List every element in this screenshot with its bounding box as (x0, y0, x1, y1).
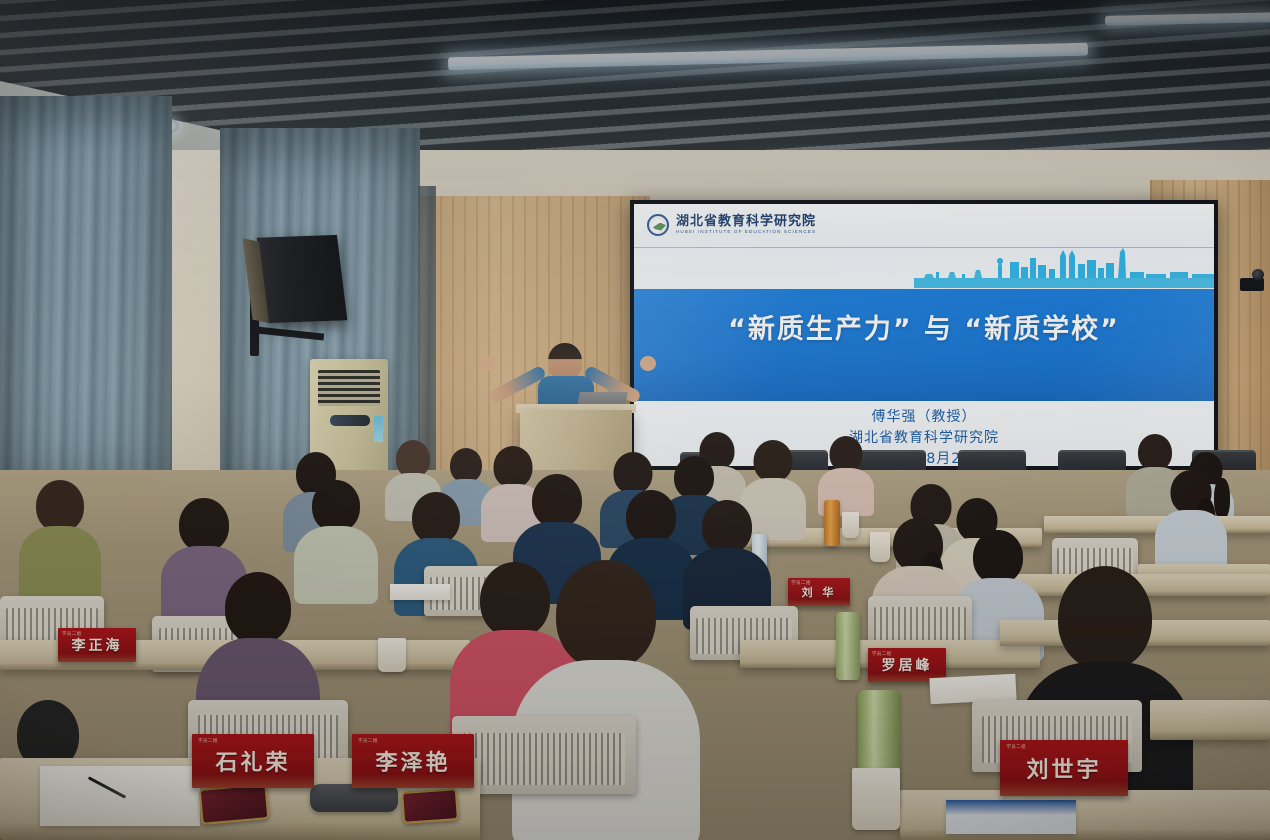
person-head (973, 530, 1023, 584)
nameplate: 学员二组 石礼荣 (192, 734, 314, 788)
person-head (225, 572, 291, 644)
wall-camera-icon (1240, 278, 1264, 291)
audience-person (300, 480, 372, 600)
person-head (754, 440, 793, 482)
person-head (626, 490, 676, 544)
smartphone[interactable] (199, 783, 270, 825)
audience-person (536, 560, 676, 840)
nameplate: 学员二组 刘 华 (788, 578, 850, 606)
nameplate: 学员二组 罗居峰 (868, 648, 946, 682)
curtain-left (0, 96, 172, 526)
nameplate-tag: 学员二组 (198, 738, 218, 744)
nameplate-name: 刘 华 (802, 584, 837, 600)
nameplate-tag: 学员二组 (358, 738, 378, 744)
smartphone[interactable] (401, 788, 459, 824)
person-head (532, 474, 582, 528)
document-sheet[interactable] (946, 800, 1076, 834)
person-head (1058, 566, 1152, 670)
ac-control-panel[interactable] (330, 415, 370, 426)
person-head (36, 480, 84, 532)
logo-wordmark: 湖北省教育科学研究院 HUBEI INSTITUTE OF EDUCATION … (676, 215, 816, 235)
person-head (830, 436, 863, 472)
nameplate-name: 李正海 (72, 635, 123, 655)
person-head (179, 498, 229, 552)
nameplate-tag: 学员二组 (791, 580, 811, 586)
juice-bottle[interactable] (824, 500, 840, 546)
audience-person (24, 480, 96, 598)
eyeglass-case[interactable] (310, 784, 398, 812)
person-head (702, 500, 752, 554)
institute-emblem-icon (647, 214, 669, 236)
person-head (556, 560, 656, 670)
presenter-hand-right (640, 356, 656, 371)
nameplate-name: 刘世宇 (1026, 752, 1101, 784)
slide-presenter-name: 傅华强（教授） (634, 407, 1214, 428)
nameplate-name: 石礼荣 (215, 745, 290, 777)
tea-cup[interactable] (842, 512, 859, 538)
paper-cup[interactable] (852, 768, 900, 830)
nameplate: 学员二组 刘世宇 (1000, 740, 1128, 796)
foreground-desk (1150, 700, 1270, 740)
ac-grille (318, 370, 380, 406)
audience-person (1160, 470, 1222, 574)
slide-logo-bar: 湖北省教育科学研究院 HUBEI INSTITUTE OF EDUCATION … (634, 204, 1214, 245)
projection-screen: 湖北省教育科学研究院 HUBEI INSTITUTE OF EDUCATION … (630, 200, 1218, 470)
nameplate: 学员二组 李正海 (58, 628, 136, 662)
person-head (412, 492, 460, 544)
nameplate-name: 李泽艳 (375, 745, 450, 777)
person-head (614, 452, 653, 494)
logo-text-cn: 湖北省教育科学研究院 (676, 215, 816, 228)
person-body (19, 526, 101, 602)
person-head (450, 448, 482, 483)
nameplate-tag: 学员二组 (872, 651, 892, 657)
ac-label-sticker (374, 416, 383, 442)
city-skyline-graphic (914, 248, 1214, 288)
photo-scene: 湖北省教育科学研究院 HUBEI INSTITUTE OF EDUCATION … (0, 0, 1270, 840)
slide-title: “新质生产力” 与 “新质学校” (634, 307, 1214, 346)
logo-text-en: HUBEI INSTITUTE OF EDUCATION SCIENCES (676, 230, 816, 235)
nameplate-name: 罗居峰 (882, 655, 933, 675)
presenter-hand-left (480, 356, 496, 371)
nameplate-tag: 学员二组 (1006, 744, 1026, 750)
person-head (1138, 434, 1172, 471)
tea-jar[interactable] (836, 612, 860, 680)
document-sheet[interactable] (390, 584, 450, 600)
presentation-slide: 湖北省教育科学研究院 HUBEI INSTITUTE OF EDUCATION … (634, 204, 1214, 466)
person-head (312, 480, 360, 532)
paper-cup[interactable] (378, 638, 406, 672)
nameplate-tag: 学员二组 (62, 631, 82, 637)
wall-loudspeaker (257, 235, 348, 323)
nameplate: 学员二组 李泽艳 (352, 734, 474, 788)
